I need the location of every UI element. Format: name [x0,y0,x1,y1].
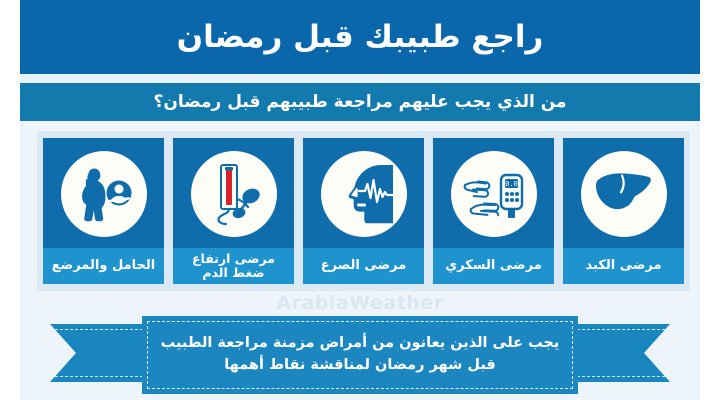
card-icon-area [43,138,164,248]
header-divider [20,74,700,83]
card-icon-area [173,138,294,248]
category-card-diabetes[interactable]: 0.0 مرضى السكري [433,138,554,284]
subtitle-bar: من الذي يجب عليهم مراجعة طبيبهم قبل رمضا… [20,83,700,121]
card-label-strip: مرضى الكبد [563,248,684,284]
ribbon-text: يجب على الذين يعانون من أمراض مزمنة مراج… [156,333,564,377]
blood-pressure-monitor-icon [191,151,277,237]
card-icon-area [303,138,424,248]
patient-categories-panel: الحامل والمرضع [37,131,690,291]
card-label-strip: مرضى الصرع [303,248,424,284]
glucometer-hand-icon: 0.0 [451,151,537,237]
glucometer-reading: 0.0 [505,180,518,188]
card-label-strip: مرضى ارتفاع ضغط الدم [173,248,294,284]
card-icon-area [563,138,684,248]
card-label: مرضى ارتفاع ضغط الدم [176,252,291,280]
category-card-pregnant-nursing[interactable]: الحامل والمرضع [43,138,164,284]
category-card-epilepsy[interactable]: مرضى الصرع [303,138,424,284]
card-label: مرضى الكبد [585,259,661,274]
category-card-liver[interactable]: مرضى الكبد [563,138,684,284]
pregnant-nursing-woman-icon [61,151,147,237]
footer-ribbon: يجب على الذين يعانون من أمراض مزمنة مراج… [50,316,670,396]
card-icon-area: 0.0 [433,138,554,248]
header-bar: راجع طبيبك قبل رمضان [20,0,700,74]
card-label-strip: الحامل والمرضع [43,248,164,284]
subtitle-text: من الذي يجب عليهم مراجعة طبيبهم قبل رمضا… [153,92,566,112]
card-label: مرضى الصرع [321,259,407,274]
head-brainwave-icon [321,151,407,237]
watermark: ArabiaWeather [20,292,700,314]
card-label: الحامل والمرضع [52,259,155,274]
liver-icon [581,151,667,237]
category-card-hypertension[interactable]: مرضى ارتفاع ضغط الدم [173,138,294,284]
card-label-strip: مرضى السكري [433,248,554,284]
card-label: مرضى السكري [445,259,542,274]
page-title: راجع طبيبك قبل رمضان [177,22,544,53]
ribbon-main-panel: يجب على الذين يعانون من أمراض مزمنة مراج… [142,316,578,394]
infographic-poster: راجع طبيبك قبل رمضان من الذي يجب عليهم م… [20,0,700,400]
